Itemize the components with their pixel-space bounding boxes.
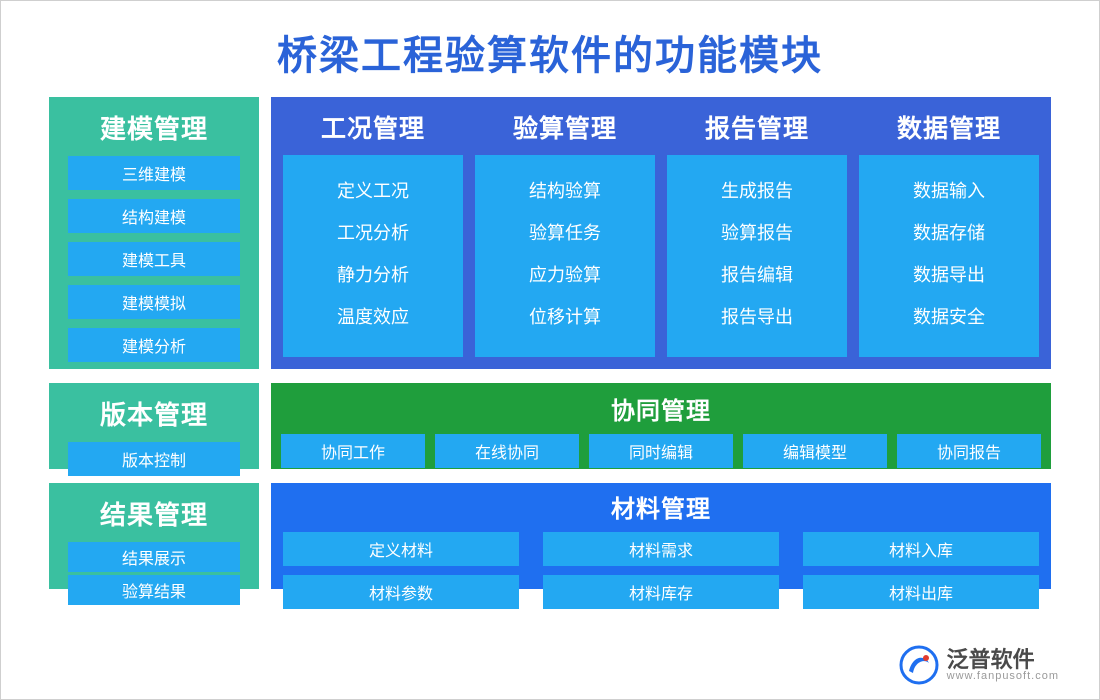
column-check-management: 验算管理 结构验算 验算任务 应力验算 位移计算 [475,105,655,357]
item-data-input[interactable]: 数据输入 [913,177,985,203]
item-stress-check[interactable]: 应力验算 [529,261,601,287]
logo-text-block: 泛普软件 www.fanpusoft.com [947,648,1059,683]
column-title-data: 数据管理 [897,109,1001,145]
item-static-analysis[interactable]: 静力分析 [337,261,409,287]
item-condition-analysis[interactable]: 工况分析 [337,219,409,245]
row-version-and-collab: 版本管理 版本控制 协同管理 协同工作 在线协同 同时编辑 编辑模型 协同报告 [49,383,1051,469]
card-title-result: 结果管理 [100,495,208,532]
column-body-condition: 定义工况 工况分析 静力分析 温度效应 [283,155,463,357]
column-body-data: 数据输入 数据存储 数据导出 数据安全 [859,155,1039,357]
panel-collaboration: 协同管理 协同工作 在线协同 同时编辑 编辑模型 协同报告 [271,383,1051,469]
column-data-management: 数据管理 数据输入 数据存储 数据导出 数据安全 [859,105,1039,357]
fanpu-logo-icon [899,645,939,685]
chip-material-stock[interactable]: 材料库存 [543,575,779,609]
column-body-check: 结构验算 验算任务 应力验算 位移计算 [475,155,655,357]
panel-title-material: 材料管理 [611,489,711,524]
chip-modeling-tools[interactable]: 建模工具 [68,242,240,276]
chip-structure-modeling[interactable]: 结构建模 [68,199,240,233]
card-modeling-management[interactable]: 建模管理 三维建模 结构建模 建模工具 建模模拟 建模分析 [49,97,259,369]
chip-3d-modeling[interactable]: 三维建模 [68,156,240,190]
column-report-management: 报告管理 生成报告 验算报告 报告编辑 报告导出 [667,105,847,357]
chip-modeling-simulation[interactable]: 建模模拟 [68,285,240,319]
chip-online-collab[interactable]: 在线协同 [435,434,579,468]
item-displacement-calc[interactable]: 位移计算 [529,303,601,329]
item-structure-check[interactable]: 结构验算 [529,177,601,203]
logo-name-cn: 泛普软件 [947,648,1059,671]
column-condition-management: 工况管理 定义工况 工况分析 静力分析 温度效应 [283,105,463,357]
chip-collab-work[interactable]: 协同工作 [281,434,425,468]
item-generate-report[interactable]: 生成报告 [721,177,793,203]
item-define-condition[interactable]: 定义工况 [337,177,409,203]
chip-collab-report[interactable]: 协同报告 [897,434,1041,468]
chip-material-params[interactable]: 材料参数 [283,575,519,609]
row-modeling-and-core: 建模管理 三维建模 结构建模 建模工具 建模模拟 建模分析 工况管理 定义工况 … [49,97,1051,369]
column-title-check: 验算管理 [513,109,617,145]
card-title-modeling: 建模管理 [100,109,208,146]
chip-define-material[interactable]: 定义材料 [283,532,519,566]
row-result-and-material: 结果管理 结果展示 验算结果 材料管理 定义材料 材料需求 材料入库 材料参数 … [49,483,1051,589]
chip-material-demand[interactable]: 材料需求 [543,532,779,566]
item-data-storage[interactable]: 数据存储 [913,219,985,245]
card-version-management[interactable]: 版本管理 版本控制 [49,383,259,469]
logo-name-en: www.fanpusoft.com [947,671,1059,683]
chip-result-display[interactable]: 结果展示 [68,542,240,572]
collaboration-chip-row: 协同工作 在线协同 同时编辑 编辑模型 协同报告 [281,434,1041,468]
chip-simultaneous-edit[interactable]: 同时编辑 [589,434,733,468]
item-data-export[interactable]: 数据导出 [913,261,985,287]
item-data-security[interactable]: 数据安全 [913,303,985,329]
brand-logo: 泛普软件 www.fanpusoft.com [899,645,1059,685]
column-body-report: 生成报告 验算报告 报告编辑 报告导出 [667,155,847,357]
item-report-edit[interactable]: 报告编辑 [721,261,793,287]
chip-material-inbound[interactable]: 材料入库 [803,532,1039,566]
item-report-export[interactable]: 报告导出 [721,303,793,329]
chip-material-outbound[interactable]: 材料出库 [803,575,1039,609]
item-check-task[interactable]: 验算任务 [529,219,601,245]
panel-core-modules: 工况管理 定义工况 工况分析 静力分析 温度效应 验算管理 结构验算 验算任务 … [271,97,1051,369]
card-title-version: 版本管理 [100,395,208,432]
card-result-management[interactable]: 结果管理 结果展示 验算结果 [49,483,259,589]
item-check-report[interactable]: 验算报告 [721,219,793,245]
material-chip-grid: 定义材料 材料需求 材料入库 材料参数 材料库存 材料出库 [283,532,1039,609]
item-temperature-effect[interactable]: 温度效应 [337,303,409,329]
chip-version-control[interactable]: 版本控制 [68,442,240,476]
chip-edit-model[interactable]: 编辑模型 [743,434,887,468]
column-title-report: 报告管理 [705,109,809,145]
page-title: 桥梁工程验算软件的功能模块 [1,23,1099,81]
column-title-condition: 工况管理 [321,109,425,145]
panel-title-collaboration: 协同管理 [611,391,711,426]
chip-modeling-analysis[interactable]: 建模分析 [68,328,240,362]
panel-material: 材料管理 定义材料 材料需求 材料入库 材料参数 材料库存 材料出库 [271,483,1051,589]
chip-check-result[interactable]: 验算结果 [68,575,240,605]
